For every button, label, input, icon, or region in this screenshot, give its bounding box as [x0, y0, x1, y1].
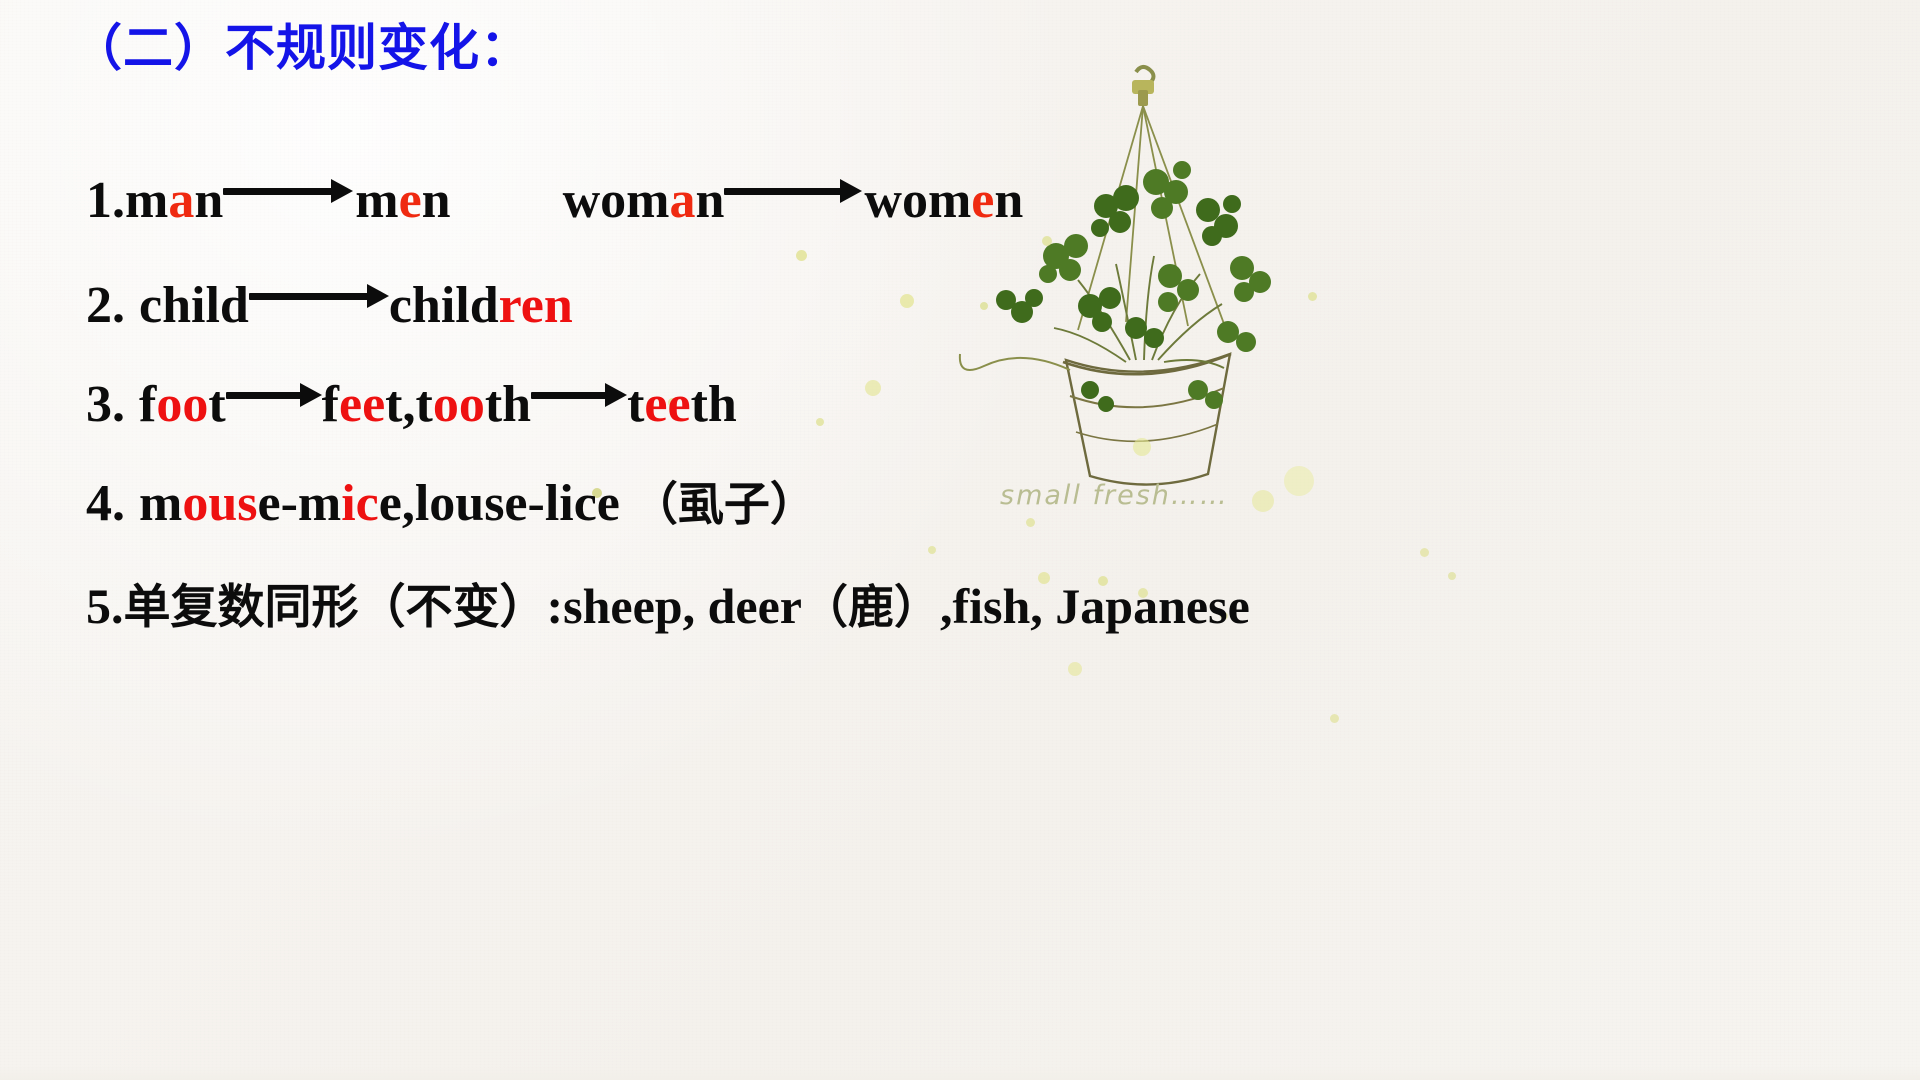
line-4-mouse-pre: m: [139, 474, 182, 533]
arrow-right-icon: [223, 165, 355, 217]
line-1-singular2-pre: wom: [563, 171, 670, 230]
line-4-mouse-mid: e-m: [257, 474, 341, 533]
line-3-feet-post: t: [385, 375, 402, 434]
line-1-plural2-post: n: [994, 171, 1023, 230]
line-3-number: 3.: [86, 375, 125, 434]
decorative-speck: [1330, 714, 1339, 723]
line-1-plural2-highlight: e: [971, 171, 994, 230]
content-line-2: 2. child children: [86, 270, 1486, 335]
line-3-feet-highlight: ee: [339, 375, 385, 434]
line-1-singular-highlight: a: [168, 171, 194, 230]
line-2-plural-pre: child: [389, 276, 499, 335]
content-line-3: 3. foot feet, tooth teeth: [86, 369, 1486, 434]
line-1-singular-post: n: [194, 171, 223, 230]
content-line-1: 1. man men woman women: [86, 165, 1486, 230]
arrow-right-icon: [226, 369, 322, 421]
line-4-mice-highlight: ic: [341, 474, 379, 533]
line-1-plural2-pre: wom: [864, 171, 971, 230]
slide-canvas: （二）不规则变化：: [0, 0, 1920, 1080]
line-1-plural-pre: m: [355, 171, 398, 230]
line-4-mouse-post: e,: [379, 474, 415, 533]
line-3-tooth-highlight: oo: [433, 375, 485, 434]
line-1-singular2-highlight: a: [669, 171, 695, 230]
line-4-louse-lice: louse-lice: [415, 474, 620, 533]
line-5-examples-tail: ,fish, Japanese: [940, 577, 1250, 635]
line-5-chinese-lead: 单复数同形（不变）: [124, 568, 547, 637]
decorative-speck: [1068, 662, 1082, 676]
line-2-number: 2.: [86, 276, 125, 335]
arrow-right-icon: [724, 165, 864, 217]
line-5-examples: sheep, deer: [563, 577, 802, 635]
content-lines: 1. man men woman women 2. child children…: [86, 165, 1486, 637]
line-1-plural-highlight: e: [399, 171, 422, 230]
plant-hook: [1132, 67, 1154, 106]
line-5-number: 5.: [86, 577, 124, 635]
line-5-colon: :: [547, 577, 564, 635]
line-3-foot-highlight: oo: [156, 375, 208, 434]
content-line-5: 5. 单复数同形（不变）: sheep, deer（鹿）,fish, Japan…: [86, 568, 1486, 637]
line-3-tooth-post: th: [485, 375, 531, 434]
line-1-number: 1.: [86, 171, 125, 230]
line-1-singular-pre: m: [125, 171, 168, 230]
line-1-plural-post: n: [422, 171, 451, 230]
page-title: （二）不规则变化：: [72, 8, 531, 80]
line-4-mouse-highlight: ous: [182, 474, 257, 533]
line-1-singular2-post: n: [695, 171, 724, 230]
content-line-4: 4. mouse-mice, louse-lice （虱子）: [86, 468, 1486, 534]
line-3-foot-post: t: [208, 375, 225, 434]
line-2-singular: child: [139, 276, 249, 335]
arrow-right-icon: [249, 270, 389, 322]
line-4-annotation: （虱子）: [632, 468, 816, 534]
line-2-plural-highlight: ren: [499, 276, 573, 335]
slide-bottom-edge: [0, 1066, 1920, 1080]
line-3-teeth-highlight: ee: [644, 375, 690, 434]
line-3-foot-pre: f: [139, 375, 156, 434]
line-3-teeth-post: th: [691, 375, 737, 434]
line-3-teeth-pre: t: [627, 375, 644, 434]
line-3-feet-pre: f: [322, 375, 339, 434]
line-3-tooth-pre: t: [415, 375, 432, 434]
arrow-right-icon: [531, 369, 627, 421]
line-4-number: 4.: [86, 474, 125, 533]
line-3-separator: ,: [402, 375, 415, 434]
line-5-deer-annotation: （鹿）: [802, 571, 940, 637]
